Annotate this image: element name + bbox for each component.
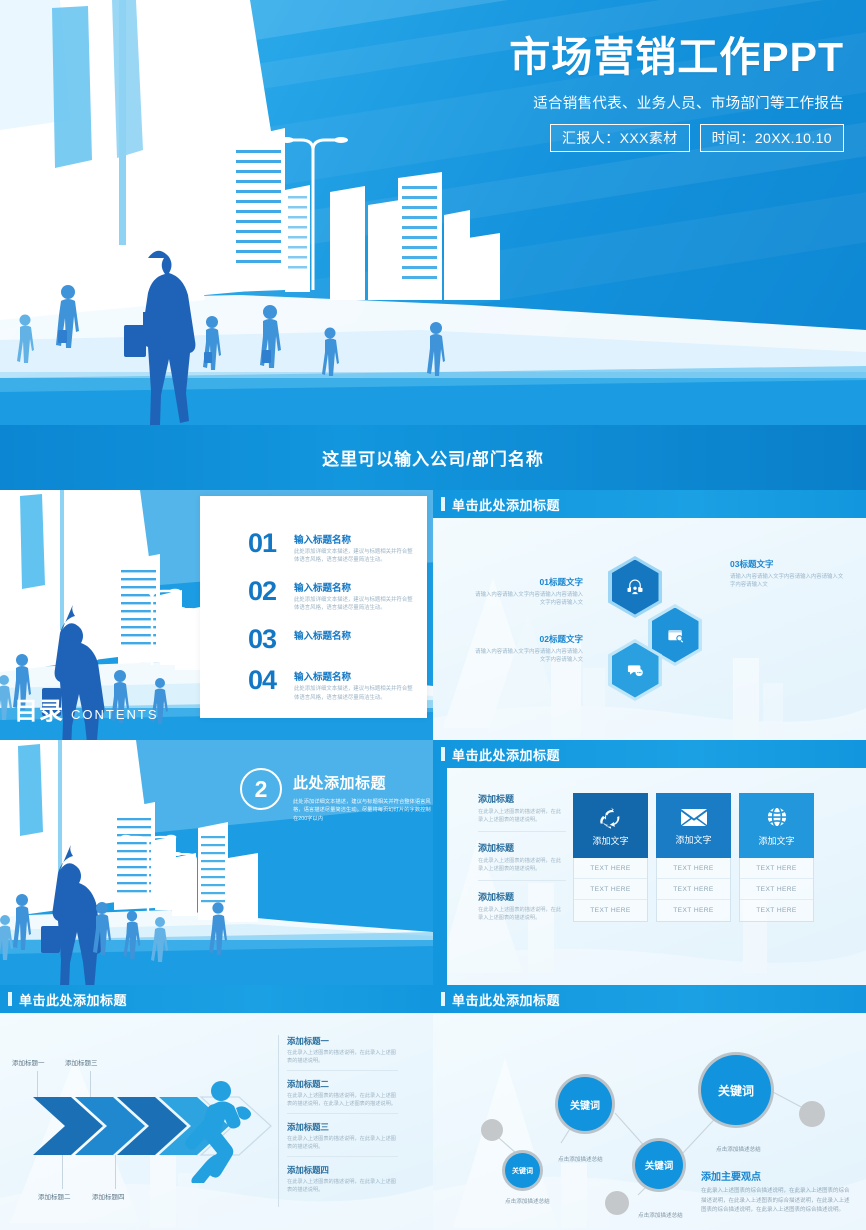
info-card-row: TEXT HERE [740, 900, 813, 921]
network-node-4[interactable]: 关键词 [701, 1055, 771, 1125]
chat-icon [625, 660, 645, 680]
slide-network: 单击此处添加标题 [433, 985, 866, 1230]
slide-header-bar: 单击此处添加标题 [433, 740, 866, 768]
hexagon-title-01: 01标题文字 [473, 576, 583, 588]
document-search-icon [666, 626, 685, 645]
info-card-top: 添加文字 [656, 793, 731, 858]
info-card-row: TEXT HERE [574, 858, 647, 879]
network-gray-node [799, 1101, 825, 1127]
network-node-3[interactable]: 关键词 [635, 1141, 683, 1189]
text-block-title: 添加标题 [478, 792, 566, 805]
hexagon-cluster [588, 556, 718, 706]
slide-row-2: 01 输入标题名称 此处添加详细文本描述，建议与标题相关并符合整体语言风格，语言… [0, 490, 866, 740]
slide-section-divider: 2 此处添加标题 此处添加详细文本描述，建议与标题相关并符合整体语言风格，语言描… [0, 740, 433, 985]
arrow-label-3: 添加标题三 [65, 1057, 98, 1067]
cards-left-column: 添加标题 在此录入上述图表的描述说明，在此录入上述图表的描述说明。 添加标题 在… [478, 792, 566, 938]
network-node-1[interactable]: 关键词 [505, 1153, 540, 1188]
slide-header-title: 单击此处添加标题 [452, 495, 560, 514]
arrow-label-2: 添加标题二 [38, 1191, 71, 1201]
page-title: 市场营销工作PPT [509, 36, 844, 79]
hexagon-01[interactable] [608, 556, 662, 618]
info-card-top: 添加文字 [573, 793, 648, 858]
envelope-icon [680, 805, 708, 829]
slide-header-bar: 单击此处添加标题 [433, 490, 866, 518]
info-card-top: 添加文字 [739, 793, 814, 858]
network-caption-2: 点击添加描述总结 [558, 1155, 603, 1163]
headset-icon [625, 577, 645, 597]
slide-arrows: 单击此处添加标题 [0, 985, 433, 1230]
date-box: 时间：20XX.10.10 [700, 124, 844, 152]
list-item-desc: 在此录入上述图表的描述说明，在此录入上述图表的描述说明。 [287, 1049, 398, 1065]
section-number: 2 [255, 776, 268, 803]
contents-label-cn: 目录 [14, 691, 64, 726]
title-meta-row: 汇报人：XXX素材 时间：20XX.10.10 [509, 124, 844, 152]
slide-row-4: 单击此处添加标题 [0, 985, 866, 1230]
network-body: 关键词 关键词 关键词 关键词 点击添加描述总结 点击添加描述总结 点击添加描述… [433, 1013, 866, 1230]
list-item: 添加标题一 在此录入上述图表的描述说明，在此录入上述图表的描述说明。 [287, 1035, 398, 1071]
slide-header-title: 单击此处添加标题 [452, 745, 560, 764]
section-title: 此处添加标题 [293, 772, 433, 793]
hexagon-label-03: 03标题文字 请输入内容请输入文字内容请输入内容请输入文字内容请输入文 [730, 558, 845, 590]
text-block-desc: 在此录入上述图表的描述说明，在此录入上述图表的描述说明。 [478, 906, 566, 922]
arrows-body: 添加标题一 添加标题三 添加标题二 添加标题四 [0, 1013, 433, 1230]
header-accent-mark [441, 497, 445, 511]
list-item-title: 输入标题名称 [294, 532, 413, 546]
section-title-block: 此处添加标题 此处添加详细文本描述，建议与标题相关并符合整体语言风格，语言描述尽… [293, 772, 433, 823]
network-node-2[interactable]: 关键词 [558, 1077, 612, 1131]
network-node-label: 关键词 [570, 1097, 600, 1112]
text-block-desc: 在此录入上述图表的描述说明，在此录入上述图表的描述说明。 [478, 857, 566, 873]
network-node-label: 关键词 [512, 1166, 533, 1176]
slide-contents: 01 输入标题名称 此处添加详细文本描述，建议与标题相关并符合整体语言风格，语言… [0, 490, 433, 740]
cards-group: 添加文字 TEXT HERE TEXT HERE TEXT HERE [573, 793, 814, 922]
list-item-desc: 此处添加详细文本描述，建议与标题相关并符合整体语言风格，语言描述尽量简洁生动。 [294, 548, 413, 564]
contents-label: 目录 CONTENTS [14, 691, 159, 726]
company-name-text: 这里可以输入公司/部门名称 [322, 445, 544, 470]
network-caption-3: 点击添加描述总结 [638, 1211, 683, 1219]
info-card-rows: TEXT HERE TEXT HERE TEXT HERE [573, 858, 648, 922]
slide-row-3: 2 此处添加标题 此处添加详细文本描述，建议与标题相关并符合整体语言风格，语言描… [0, 740, 866, 985]
slide-cards: 单击此处添加标题 添加标题 在此录入上述图表的描述说明，在此录入上述图表的描述说… [433, 740, 866, 985]
network-caption-4: 点击添加描述总结 [716, 1145, 761, 1153]
info-card-rows: TEXT HERE TEXT HERE TEXT HERE [656, 858, 731, 922]
list-item-title: 输入标题名称 [294, 628, 413, 642]
leader-line [37, 1071, 38, 1097]
list-item-title: 输入标题名称 [294, 580, 413, 594]
hexagon-desc-01: 请输入内容请输入文字内容请输入内容请输入文字内容请输入文 [473, 591, 583, 608]
info-card-row: TEXT HERE [740, 879, 813, 900]
header-accent-mark [441, 992, 445, 1006]
info-card-row: TEXT HERE [740, 858, 813, 879]
arrows-right-list: 添加标题一 在此录入上述图表的描述说明，在此录入上述图表的描述说明。 添加标题二… [278, 1035, 398, 1207]
info-card-row: TEXT HERE [574, 900, 647, 921]
list-item-number: 03 [248, 626, 294, 653]
title-text-block: 市场营销工作PPT 适合销售代表、业务人员、市场部门等工作报告 汇报人：XXX素… [509, 36, 844, 152]
info-card-label: 添加文字 [675, 833, 711, 846]
contents-card: 01 输入标题名称 此处添加详细文本描述，建议与标题相关并符合整体语言风格，语言… [200, 496, 427, 718]
info-card[interactable]: 添加文字 TEXT HERE TEXT HERE TEXT HERE [739, 793, 814, 922]
info-card-row: TEXT HERE [657, 900, 730, 921]
text-block-desc: 在此录入上述图表的描述说明，在此录入上述图表的描述说明。 [478, 808, 566, 824]
contents-label-en: CONTENTS [71, 707, 159, 722]
presenter-box: 汇报人：XXX素材 [550, 124, 690, 152]
hexagon-title-02: 02标题文字 [473, 633, 583, 645]
network-node-label: 关键词 [645, 1158, 674, 1172]
list-item-title: 添加标题四 [287, 1164, 398, 1176]
list-item-title: 添加标题二 [287, 1078, 398, 1090]
globe-icon [764, 804, 790, 830]
network-gray-node [605, 1191, 629, 1215]
info-card-rows: TEXT HERE TEXT HERE TEXT HERE [739, 858, 814, 922]
arrow-label-4: 添加标题四 [92, 1191, 125, 1201]
cards-body: 添加标题 在此录入上述图表的描述说明，在此录入上述图表的描述说明。 添加标题 在… [433, 768, 866, 985]
list-item-desc: 此处添加详细文本描述，建议与标题相关并符合整体语言风格，语言描述尽量简洁生动。 [294, 596, 413, 612]
list-item: 添加标题二 在此录入上述图表的描述说明，在此录入上述图表的描述说明，在此录入上述… [287, 1078, 398, 1114]
info-card[interactable]: 添加文字 TEXT HERE TEXT HERE TEXT HERE [656, 793, 731, 922]
network-node-label: 关键词 [718, 1082, 754, 1099]
list-item-desc: 在此录入上述图表的描述说明，在此录入上述图表的描述说明。 [287, 1135, 398, 1151]
slide-header-bar: 单击此处添加标题 [0, 985, 433, 1013]
text-block-title: 添加标题 [478, 841, 566, 854]
runner-icon [168, 1078, 258, 1183]
slide-hexagons: 单击此处添加标题 [433, 490, 866, 740]
text-block-title: 添加标题 [478, 890, 566, 903]
hexagon-desc-02: 请输入内容请输入文字内容请输入内容请输入文字内容请输入文 [473, 648, 583, 665]
info-card-label: 添加文字 [758, 834, 794, 847]
info-card-label: 添加文字 [592, 834, 628, 847]
arrow-label-1: 添加标题一 [12, 1057, 45, 1067]
section-number-circle: 2 [240, 768, 282, 810]
hexagon-label-02: 02标题文字 请输入内容请输入文字内容请输入内容请输入文字内容请输入文 [473, 633, 583, 665]
list-item-number: 02 [248, 578, 294, 605]
slide-title: 市场营销工作PPT 适合销售代表、业务人员、市场部门等工作报告 汇报人：XXX素… [0, 0, 866, 425]
slide-header-title: 单击此处添加标题 [452, 990, 560, 1009]
hexagon-desc-03: 请输入内容请输入文字内容请输入内容请输入文字内容请输入文 [730, 573, 845, 590]
list-item-number: 04 [248, 667, 294, 694]
hexagons-body: 01标题文字 请输入内容请输入文字内容请输入内容请输入文字内容请输入文 02标题… [433, 518, 866, 740]
opinion-title: 添加主要观点 [701, 1168, 851, 1183]
page-subtitle: 适合销售代表、业务人员、市场部门等工作报告 [509, 92, 844, 113]
info-card[interactable]: 添加文字 TEXT HERE TEXT HERE TEXT HERE [573, 793, 648, 922]
opinion-block: 添加主要观点 在此录入上述图表的综合描述说明，在此录入上述图表的综合描述说明，在… [701, 1168, 851, 1216]
list-item-title: 添加标题一 [287, 1035, 398, 1047]
network-caption-1: 点击添加描述总结 [505, 1197, 550, 1205]
opinion-desc: 在此录入上述图表的综合描述说明，在此录入上述图表的综合描述说明，在此录入上述图表… [701, 1187, 851, 1216]
slide-header-bar: 单击此处添加标题 [433, 985, 866, 1013]
left-edge-accent [433, 768, 447, 985]
company-name-band: 这里可以输入公司/部门名称 [0, 425, 866, 490]
header-accent-mark [8, 992, 12, 1006]
list-item-title: 输入标题名称 [294, 669, 413, 683]
list-item[interactable]: 02 输入标题名称 此处添加详细文本描述，建议与标题相关并符合整体语言风格，语言… [248, 578, 413, 612]
header-accent-mark [441, 747, 445, 761]
leader-line [115, 1155, 116, 1189]
slide-header-title: 单击此处添加标题 [19, 990, 127, 1009]
list-item-desc: 在此录入上述图表的描述说明，在此录入上述图表的描述说明。 [287, 1178, 398, 1194]
info-card-row: TEXT HERE [574, 879, 647, 900]
recycle-icon [598, 804, 624, 830]
ppt-template-preview: 市场营销工作PPT 适合销售代表、业务人员、市场部门等工作报告 汇报人：XXX素… [0, 0, 866, 1230]
section-desc: 此处添加详细文本描述，建议与标题相关并符合整体语言风格，语言描述尽量简洁生动。尽… [293, 798, 433, 823]
list-item[interactable]: 04 输入标题名称 此处添加详细文本描述，建议与标题相关并符合整体语言风格，语言… [248, 667, 413, 701]
list-item-title: 添加标题三 [287, 1121, 398, 1133]
contents-list: 01 输入标题名称 此处添加详细文本描述，建议与标题相关并符合整体语言风格，语言… [248, 530, 413, 716]
text-block: 添加标题 在此录入上述图表的描述说明，在此录入上述图表的描述说明。 [478, 841, 566, 881]
list-item: 添加标题四 在此录入上述图表的描述说明，在此录入上述图表的描述说明。 [287, 1164, 398, 1199]
info-card-row: TEXT HERE [657, 858, 730, 879]
list-item-desc: 在此录入上述图表的描述说明，在此录入上述图表的描述说明，在此录入上述图表的描述说… [287, 1092, 398, 1108]
list-item[interactable]: 03 输入标题名称 [248, 626, 413, 653]
list-item[interactable]: 01 输入标题名称 此处添加详细文本描述，建议与标题相关并符合整体语言风格，语言… [248, 530, 413, 564]
info-card-row: TEXT HERE [657, 879, 730, 900]
text-block: 添加标题 在此录入上述图表的描述说明，在此录入上述图表的描述说明。 [478, 792, 566, 832]
leader-line [62, 1155, 63, 1189]
hexagon-title-03: 03标题文字 [730, 558, 845, 570]
list-item-number: 01 [248, 530, 294, 557]
leader-line [90, 1071, 91, 1097]
text-block: 添加标题 在此录入上述图表的描述说明，在此录入上述图表的描述说明。 [478, 890, 566, 929]
network-gray-node [481, 1119, 503, 1141]
list-item: 添加标题三 在此录入上述图表的描述说明，在此录入上述图表的描述说明。 [287, 1121, 398, 1157]
hexagon-label-01: 01标题文字 请输入内容请输入文字内容请输入内容请输入文字内容请输入文 [473, 576, 583, 608]
list-item-desc: 此处添加详细文本描述，建议与标题相关并符合整体语言风格，语言描述尽量简洁生动。 [294, 685, 413, 701]
